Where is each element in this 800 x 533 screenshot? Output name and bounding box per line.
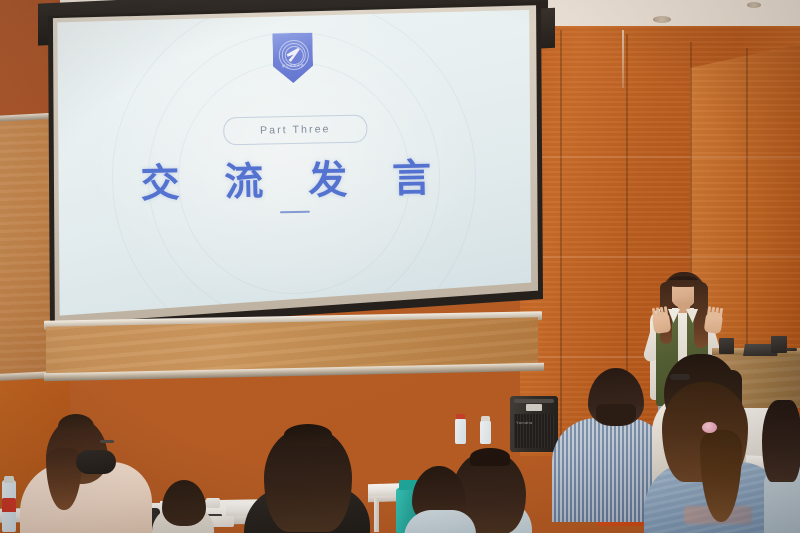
presenter-hand-right [704, 311, 724, 334]
presenter-hand-left [652, 311, 672, 334]
wall-seam-horizontal-2 [520, 256, 800, 258]
attendee-far-right-hair [762, 400, 800, 482]
water-bottle-left-label [2, 498, 16, 512]
hanging-cord [622, 30, 624, 88]
attendee-mid-right-nape [596, 404, 636, 426]
attendee-front-left-bun [58, 414, 94, 434]
ceiling-light-fixture-3 [747, 2, 761, 8]
emblem-inner-text: 航空航天大学 [280, 63, 306, 69]
bottle-mid-right-2-cap [481, 416, 490, 421]
podium-speaker-right [771, 336, 787, 353]
wall-seam-1 [560, 30, 562, 450]
title-underline-rule [280, 211, 310, 214]
bottle-mid-right[interactable] [455, 418, 466, 444]
attendee-left-mid-hair [162, 480, 206, 526]
part-label-text: Part Three [260, 123, 331, 136]
desk-mid-center-leg [374, 498, 379, 532]
podium-speaker-left [719, 338, 734, 354]
attendee-front-left-glasses-arm [100, 440, 114, 443]
slide-content: 航空航天大学 Part Three 交 流 发 言 [52, 8, 534, 320]
wall-seam-horizontal-1 [520, 156, 800, 158]
university-emblem-icon: 航空航天大学 [272, 33, 313, 84]
water-bottle-left-cap [4, 476, 14, 483]
part-label-pill: Part Three [223, 115, 368, 146]
bottle-mid-right-2[interactable] [480, 420, 491, 444]
speaker-brand-badge: Yamaha [516, 420, 532, 425]
ceiling-light-fixture-2 [653, 16, 671, 23]
attendee-right-glasses-eyewear [670, 374, 690, 380]
speaker-handle [514, 399, 554, 403]
attendee-front-left-scarf [76, 450, 116, 474]
attendee-front-center-crown [284, 424, 332, 446]
projection-screen[interactable]: 航空航天大学 Part Three 交 流 发 言 [52, 8, 534, 320]
presenter-headband [669, 276, 698, 280]
conference-room-photo: 航空航天大学 Part Three 交 流 发 言 [0, 0, 800, 533]
slide-title: 交 流 发 言 [104, 146, 485, 210]
podium-mic-arm [786, 348, 797, 351]
bottle-mid-right-cap [456, 414, 465, 419]
attendee-mid-center-crown [470, 448, 510, 466]
small-box-on-desk [206, 498, 220, 508]
attendee-front-right-scrunchie [702, 422, 717, 433]
speaker-spec-label [526, 404, 542, 411]
